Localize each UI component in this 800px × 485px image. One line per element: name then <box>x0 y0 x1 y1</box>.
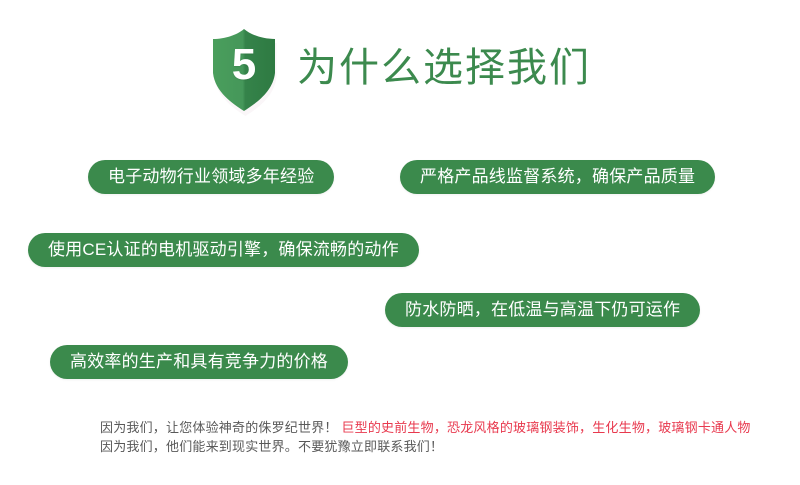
promo-page: 5 为什么选择我们 电子动物行业领域多年经验 严格产品线监督系统，确保产品质量 … <box>0 0 800 485</box>
feature-pill: 电子动物行业领域多年经验 <box>88 160 334 194</box>
footer-paragraph: 因为我们，让您体验神奇的侏罗纪世界！ 巨型的史前生物，恐龙风格的玻璃钢装饰，生化… <box>100 418 760 456</box>
page-header: 5 为什么选择我们 <box>0 22 800 122</box>
footer-line-1-highlight: 巨型的史前生物，恐龙风格的玻璃钢装饰，生化生物，玻璃钢卡通人物 <box>341 420 750 435</box>
feature-pill-list: 电子动物行业领域多年经验 严格产品线监督系统，确保产品质量 使用CE认证的电机驱… <box>0 140 800 405</box>
footer-line-2: 因为我们，他们能来到现实世界。不要犹豫立即联系我们！ <box>100 437 760 456</box>
feature-pill: 严格产品线监督系统，确保产品质量 <box>400 160 715 194</box>
feature-pill: 高效率的生产和具有竞争力的价格 <box>50 345 348 379</box>
badge-number: 5 <box>209 28 279 108</box>
shield-badge: 5 <box>209 28 279 116</box>
footer-line-1: 因为我们，让您体验神奇的侏罗纪世界！ 巨型的史前生物，恐龙风格的玻璃钢装饰，生化… <box>100 418 760 437</box>
footer-line-1-prefix: 因为我们，让您体验神奇的侏罗纪世界！ <box>100 420 341 435</box>
page-title: 为什么选择我们 <box>297 48 591 96</box>
feature-pill: 使用CE认证的电机驱动引擎，确保流畅的动作 <box>28 233 419 267</box>
feature-pill: 防水防晒，在低温与高温下仍可运作 <box>385 293 700 327</box>
